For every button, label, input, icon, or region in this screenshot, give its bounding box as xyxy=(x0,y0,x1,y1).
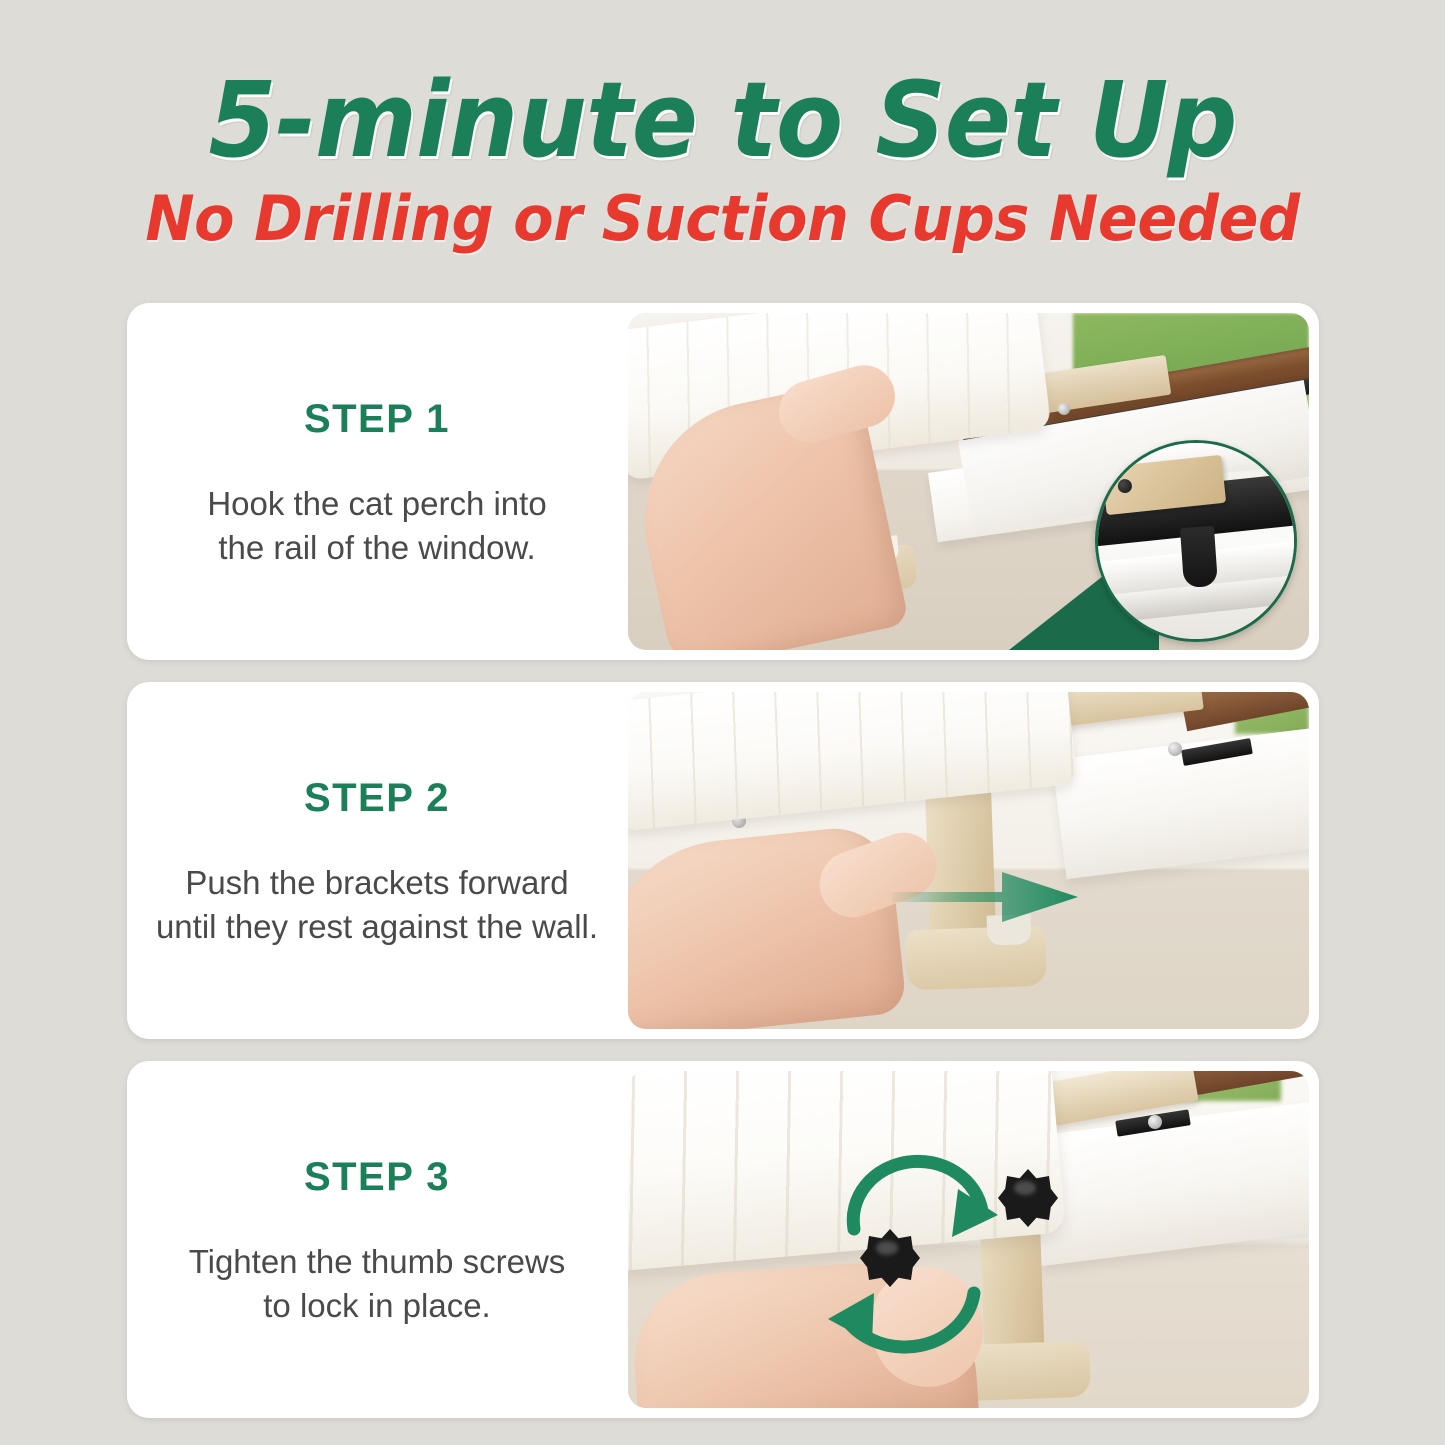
step-1-text-block: STEP 1 Hook the cat perch into the rail … xyxy=(127,303,627,660)
step-3-photo xyxy=(628,1071,1309,1408)
perch-bracket-foot xyxy=(905,926,1047,991)
step-card-3: STEP 3 Tighten the thumb screws to lock … xyxy=(127,1061,1319,1418)
closeup-detail-inset xyxy=(1095,440,1297,642)
infographic-page: 5-minute to Set Up No Drilling or Suctio… xyxy=(0,0,1445,1445)
rotate-arrow-icon-upper xyxy=(840,1145,1010,1255)
knob-highlight xyxy=(1014,1181,1036,1195)
step-3-text-block: STEP 3 Tighten the thumb screws to lock … xyxy=(127,1061,627,1418)
step-2-label: STEP 2 xyxy=(304,776,450,821)
step-card-2: STEP 2 Push the brackets forward until t… xyxy=(127,682,1319,1039)
step-1-photo xyxy=(628,313,1309,650)
step-3-label: STEP 3 xyxy=(304,1155,450,1200)
board-screw xyxy=(1148,1115,1162,1129)
inset-hook-clip xyxy=(1180,526,1218,588)
step-2-description: Push the brackets forward until they res… xyxy=(156,861,598,948)
push-direction-arrow-icon xyxy=(890,868,1080,926)
step-1-label: STEP 1 xyxy=(304,397,450,442)
rotate-arrow-icon-lower xyxy=(810,1247,990,1377)
page-subtitle: No Drilling or Suction Cups Needed xyxy=(36,172,1409,250)
step-3-description: Tighten the thumb screws to lock in plac… xyxy=(189,1240,566,1327)
page-title: 5-minute to Set Up xyxy=(43,0,1401,172)
step-card-1: STEP 1 Hook the cat perch into the rail … xyxy=(127,303,1319,660)
header-block: 5-minute to Set Up No Drilling or Suctio… xyxy=(0,0,1445,250)
step-2-photo xyxy=(628,692,1309,1029)
step-2-text-block: STEP 2 Push the brackets forward until t… xyxy=(127,682,627,1039)
board-screw-right xyxy=(1168,742,1182,756)
step-1-description: Hook the cat perch into the rail of the … xyxy=(207,482,546,569)
